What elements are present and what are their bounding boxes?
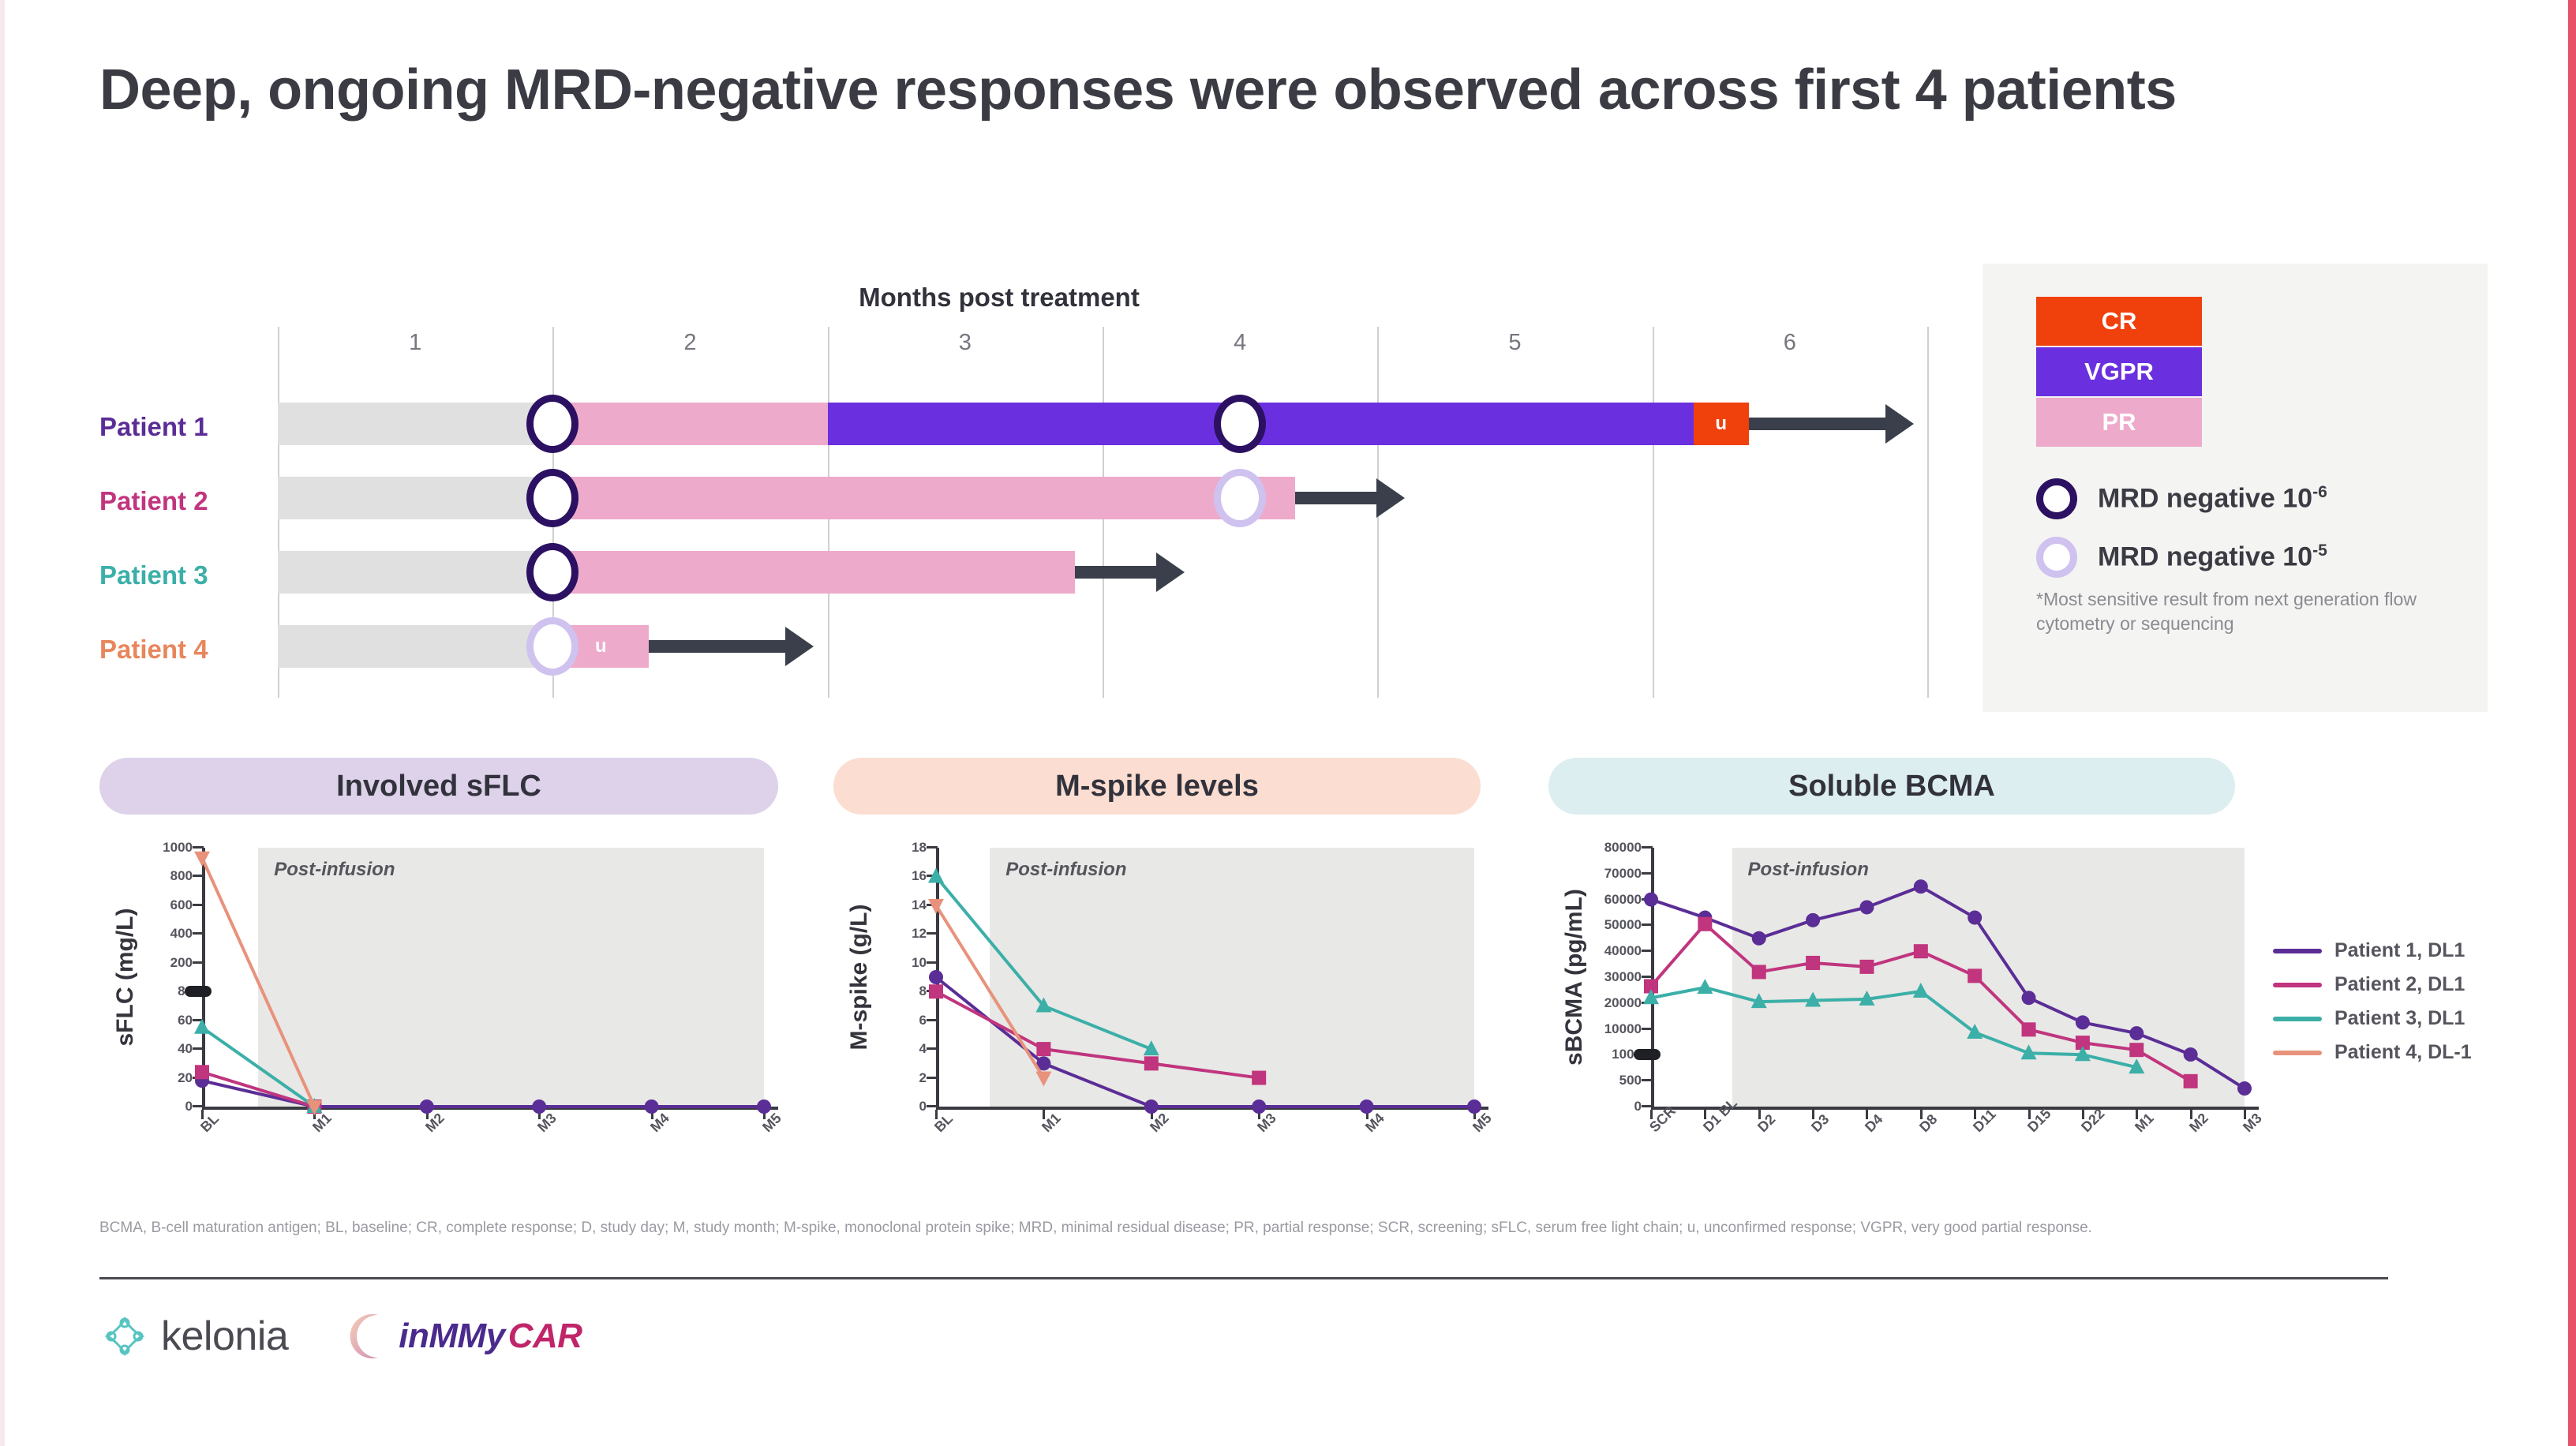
chart-y-tick: 70000 xyxy=(1604,866,1642,882)
legend-footnote: *Most sensitive result from next generat… xyxy=(2036,587,2462,636)
panel-mspike: M-spike levels xyxy=(833,758,1481,815)
arrow-head-icon xyxy=(1156,553,1185,592)
legend-chip-pr: PR xyxy=(2036,398,2202,447)
swimmer-ongoing-arrow xyxy=(1749,403,1914,445)
chart-y-tick: 20 xyxy=(178,1070,193,1086)
swimmer-segment-pre xyxy=(278,403,552,445)
arrow-shaft xyxy=(1295,492,1376,504)
post-infusion-band xyxy=(1732,848,2245,1107)
chart-y-tickmark xyxy=(927,904,938,906)
chart-y-tick: 0 xyxy=(185,1099,193,1114)
swimmer-plot: Months post treatment Patient 1Patient 2… xyxy=(99,260,1938,718)
slide-root: Deep, ongoing MRD-negative responses wer… xyxy=(0,0,2576,1446)
swimmer-row-label: Patient 2 xyxy=(99,486,208,516)
chart-y-tick: 8 xyxy=(919,983,927,999)
page-title: Deep, ongoing MRD-negative responses wer… xyxy=(99,57,2309,124)
arrow-shaft xyxy=(649,640,785,653)
mrd-deep-marker-icon xyxy=(526,395,578,453)
arrow-head-icon xyxy=(785,627,814,666)
chart-y-tick: 12 xyxy=(912,926,927,942)
chart-y-axis-label: sFLC (mg/L) xyxy=(112,848,139,1107)
mrd-deep-text: MRD negative 10 xyxy=(2098,484,2312,514)
swimmer-month-tick: 3 xyxy=(918,330,1013,356)
swimmer-row-label: Patient 4 xyxy=(99,635,208,665)
swimmer-ongoing-arrow xyxy=(1295,477,1405,519)
chart-y-tickmark xyxy=(1642,976,1653,978)
slide-edge-left xyxy=(0,0,5,1446)
swimmer-gridline xyxy=(1653,327,1654,698)
legend-mrd-shallow: MRD negative 10-5 xyxy=(2036,537,2327,578)
chart-y-tick: 600 xyxy=(170,897,193,913)
chart-y-tickmark xyxy=(1642,1002,1653,1004)
inmmycar-wordmark-b: CAR xyxy=(508,1317,582,1356)
chart-sflc: sFLC (mg/L)Post-infusion0204060802004006… xyxy=(99,837,778,1192)
chart-y-tick: 1000 xyxy=(163,840,193,856)
panel-bcma: Soluble BCMA xyxy=(1548,758,2235,815)
chart-y-tick: 16 xyxy=(912,868,927,884)
panel-title-mspike: M-spike levels xyxy=(833,758,1481,815)
chart-legend-item: Patient 4, DL-1 xyxy=(2273,1041,2472,1064)
mrd-deep-exp: -6 xyxy=(2312,483,2327,501)
post-infusion-label: Post-infusion xyxy=(1005,859,1126,881)
chart-y-tickmark xyxy=(1642,898,1653,901)
chart-y-tick: 80000 xyxy=(1604,840,1642,856)
logo-inmmycar: inMMy CAR xyxy=(343,1312,582,1361)
chart-y-tick: 800 xyxy=(170,868,193,884)
swimmer-month-tick: 2 xyxy=(643,330,738,356)
mrd-deep-marker-icon xyxy=(526,469,578,527)
chart-x-axis xyxy=(202,1107,778,1110)
swimmer-ongoing-arrow xyxy=(1075,551,1185,594)
chart-y-tickmark xyxy=(193,1019,204,1021)
chart-y-tick: 14 xyxy=(912,897,927,913)
chart-y-tickmark xyxy=(1642,846,1653,848)
chart-legend-label: Patient 2, DL1 xyxy=(2334,973,2465,996)
chart-y-tick: 6 xyxy=(919,1013,927,1028)
chart-y-tickmark xyxy=(193,1047,204,1050)
inmmycar-wordmark-a: inMMy xyxy=(399,1317,504,1356)
chart-y-tick: 40000 xyxy=(1604,943,1642,959)
slide-edge-right xyxy=(2568,0,2576,1446)
chart-y-tick: 40 xyxy=(178,1041,193,1057)
panel-title-bcma: Soluble BCMA xyxy=(1548,758,2235,815)
chart-y-tickmark xyxy=(927,1047,938,1050)
chart-y-tick: 50000 xyxy=(1604,917,1642,933)
chart-legend-swatch-icon xyxy=(2273,1017,2322,1021)
swimmer-month-tick: 1 xyxy=(368,330,462,356)
swimmer-month-tick: 6 xyxy=(1743,330,1837,356)
post-infusion-label: Post-infusion xyxy=(1748,859,1869,881)
swimmer-segment-pre xyxy=(278,551,552,594)
chart-y-tickmark xyxy=(193,932,204,935)
series-marker-square xyxy=(1698,917,1712,931)
chart-legend-item: Patient 1, DL1 xyxy=(2273,939,2472,962)
swimmer-axis-title: Months post treatment xyxy=(699,283,1299,313)
chart-y-tickmark xyxy=(927,875,938,877)
legend-mrd-deep: MRD negative 10-6 xyxy=(2036,478,2327,519)
chart-y-tick: 200 xyxy=(170,955,193,971)
chart-y-tickmark xyxy=(193,961,204,964)
swimmer-row-label: Patient 3 xyxy=(99,560,208,590)
chart-y-tickmark xyxy=(1642,1105,1653,1107)
chart-y-tickmark xyxy=(927,846,938,848)
swimmer-month-tick: 4 xyxy=(1193,330,1287,356)
chart-legend-label: Patient 1, DL1 xyxy=(2334,939,2465,962)
chart-y-axis xyxy=(202,848,205,1107)
swimmer-segment-pr xyxy=(552,551,1075,594)
arrow-head-icon xyxy=(1376,478,1405,518)
legend-chip-cr: CR xyxy=(2036,297,2202,346)
chart-y-tickmark xyxy=(927,1077,938,1079)
mrd-deep-marker-icon xyxy=(526,543,578,601)
mrd-shallow-ring-icon xyxy=(2036,537,2077,578)
mrd-shallow-marker-icon xyxy=(526,617,578,676)
mrd-deep-marker-icon xyxy=(1214,395,1266,453)
chart-y-tickmark xyxy=(1642,1028,1653,1030)
chart-legend-label: Patient 4, DL-1 xyxy=(2334,1041,2472,1064)
swimmer-segment-pr xyxy=(552,477,1295,519)
chart-legend-swatch-icon xyxy=(2273,1051,2322,1055)
chart-y-tick: 10000 xyxy=(1604,1021,1642,1037)
chart-y-tickmark xyxy=(927,1019,938,1021)
arrow-head-icon xyxy=(1885,404,1914,444)
swimmer-plot-area: 123456uu xyxy=(278,327,1927,698)
chart-x-axis xyxy=(1651,1107,2259,1110)
swimmer-segment-pre xyxy=(278,625,552,668)
chart-bcma: sBCMA (pg/mL)Post-infusion05001000100002… xyxy=(1548,837,2259,1192)
mrd-shallow-exp: -5 xyxy=(2312,541,2327,560)
series-marker-circle xyxy=(1698,911,1712,925)
chart-y-tick: 20000 xyxy=(1604,995,1642,1011)
chart-legend-item: Patient 3, DL1 xyxy=(2273,1007,2472,1030)
chart-legend-item: Patient 2, DL1 xyxy=(2273,973,2472,996)
chart-y-tick: 0 xyxy=(919,1099,927,1114)
chart-y-tickmark xyxy=(1642,950,1653,952)
chart-y-tickmark xyxy=(1642,923,1653,926)
footer-divider xyxy=(99,1277,2388,1279)
panel-sflc: Involved sFLC xyxy=(99,758,778,815)
chart-y-tick: 60 xyxy=(178,1013,193,1028)
chart-mspike: M-spike (g/L)Post-infusion02468101214161… xyxy=(833,837,1488,1192)
panel-title-sflc: Involved sFLC xyxy=(99,758,778,815)
chart-y-tickmark xyxy=(927,961,938,964)
legend-chip-vgpr: VGPR xyxy=(2036,347,2202,396)
footer-logos: kelonia inMMy CAR xyxy=(103,1312,582,1361)
swimmer-row-label: Patient 1 xyxy=(99,412,208,442)
chart-y-axis xyxy=(936,848,939,1107)
chart-legend-swatch-icon xyxy=(2273,949,2322,953)
swimmer-gridline xyxy=(1927,327,1929,698)
chart-y-tick: 2 xyxy=(919,1070,927,1086)
chart-y-tick: 60000 xyxy=(1604,892,1642,908)
chart-y-tickmark xyxy=(193,1105,204,1107)
kelonia-mark-icon xyxy=(103,1314,147,1358)
arrow-shaft xyxy=(1075,566,1156,579)
swimmer-segment-pre xyxy=(278,477,552,519)
axis-break-marker-icon xyxy=(1634,1049,1661,1060)
chart-y-tickmark xyxy=(193,904,204,906)
chart-y-tick: 10 xyxy=(912,955,927,971)
chart-y-tick: 4 xyxy=(919,1041,927,1057)
arrow-shaft xyxy=(1749,418,1885,430)
chart-y-tickmark xyxy=(927,990,938,992)
chart-legend-swatch-icon xyxy=(2273,983,2322,987)
chart-y-tickmark xyxy=(927,932,938,935)
chart-legend: Patient 1, DL1Patient 2, DL1Patient 3, D… xyxy=(2273,939,2472,1075)
series-marker-triangle xyxy=(1697,979,1713,994)
swimmer-segment-pr xyxy=(552,403,827,445)
swimmer-ongoing-arrow xyxy=(649,625,814,668)
chart-y-tickmark xyxy=(1642,872,1653,875)
swimmer-segment-cr: u xyxy=(1694,403,1749,445)
mrd-shallow-label: MRD negative 10-5 xyxy=(2098,541,2327,572)
chart-y-tick: 0 xyxy=(1634,1099,1642,1114)
inmmycar-crescent-icon xyxy=(343,1312,391,1361)
post-infusion-label: Post-infusion xyxy=(274,859,395,881)
logo-kelonia: kelonia xyxy=(103,1313,288,1360)
chart-y-axis-label: sBCMA (pg/mL) xyxy=(1561,848,1588,1107)
mrd-deep-label: MRD negative 10-6 xyxy=(2098,483,2327,514)
post-infusion-band xyxy=(990,848,1474,1107)
chart-y-tickmark xyxy=(1642,1079,1653,1081)
chart-legend-label: Patient 3, DL1 xyxy=(2334,1007,2465,1030)
chart-y-axis-label: M-spike (g/L) xyxy=(846,848,873,1107)
kelonia-wordmark: kelonia xyxy=(161,1313,288,1360)
chart-y-tickmark xyxy=(193,875,204,877)
chart-y-tick: 400 xyxy=(170,926,193,942)
chart-y-tick: 30000 xyxy=(1604,969,1642,985)
chart-y-tick: 18 xyxy=(912,840,927,856)
swimmer-month-tick: 5 xyxy=(1468,330,1563,356)
abbreviations-footnote: BCMA, B-cell maturation antigen; BL, bas… xyxy=(99,1217,2388,1239)
chart-y-tick: 500 xyxy=(1619,1073,1642,1088)
chart-y-tickmark xyxy=(193,846,204,848)
chart-y-tickmark xyxy=(927,1105,938,1107)
mrd-shallow-text: MRD negative 10 xyxy=(2098,542,2312,572)
chart-x-axis xyxy=(936,1107,1488,1110)
post-infusion-band xyxy=(258,848,764,1107)
axis-break-marker-icon xyxy=(185,986,212,997)
mrd-shallow-marker-icon xyxy=(1214,469,1266,527)
swimmer-segment-label: u xyxy=(1694,413,1749,435)
mrd-deep-ring-icon xyxy=(2036,478,2077,519)
response-legend: CR VGPR PR MRD negative 10-6 MRD negativ… xyxy=(1983,264,2488,712)
chart-y-tickmark xyxy=(193,1077,204,1079)
